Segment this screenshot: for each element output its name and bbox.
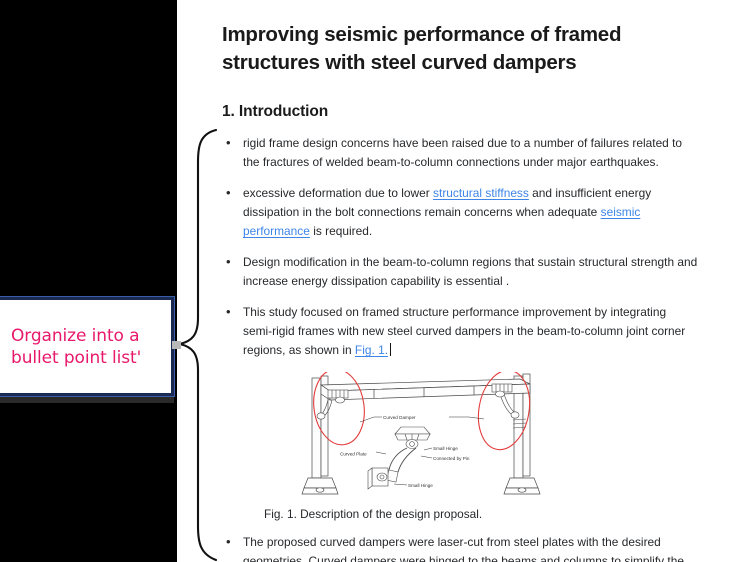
bullet-list: rigid frame design concerns have been ra… <box>222 134 698 562</box>
callout-shadow <box>0 396 174 403</box>
figure-image: Curved Damper Curved Plate Small Hinge C… <box>264 372 698 503</box>
brace-connector <box>176 128 218 562</box>
list-item-bullet-4[interactable]: This study focused on framed structure p… <box>222 303 698 360</box>
bullet-2-text: excessive deformation due to lower struc… <box>243 186 651 238</box>
callout-text: Organize into a bullet point list' <box>0 325 171 369</box>
list-item-bullet-2[interactable]: excessive deformation due to lower struc… <box>222 184 698 241</box>
left-dark-panel <box>0 0 177 562</box>
design-proposal-diagram: Curved Damper Curved Plate Small Hinge C… <box>264 372 594 497</box>
inline-link[interactable]: structural stiffness <box>433 186 529 200</box>
bullet-3-text: Design modification in the beam-to-colum… <box>243 255 697 288</box>
label-small-hinge-top: Small Hinge <box>433 446 458 451</box>
screenshot-root: Improving seismic performance of framed … <box>0 0 740 562</box>
instruction-callout[interactable]: Organize into a bullet point list' <box>0 297 174 396</box>
list-item-bullet-5[interactable]: The proposed curved dampers were laser-c… <box>222 533 698 562</box>
bullet-5-text: The proposed curved dampers were laser-c… <box>243 535 684 562</box>
document-pane: Improving seismic performance of framed … <box>177 0 740 562</box>
label-curved-damper: Curved Damper <box>383 415 416 420</box>
inline-link[interactable]: Fig. 1. <box>355 343 388 357</box>
figure-container: Curved Damper Curved Plate Small Hinge C… <box>222 372 698 523</box>
callout-connector-handle[interactable] <box>172 341 181 349</box>
label-curved-plate: Curved Plate <box>340 452 367 457</box>
text-cursor <box>390 343 391 356</box>
label-connected-by-pin: Connected by Pin <box>433 456 470 461</box>
inline-link[interactable]: seismic performance <box>243 205 640 238</box>
list-item-bullet-3[interactable]: Design modification in the beam-to-colum… <box>222 253 698 291</box>
label-small-hinge-bottom: Small Hinge <box>408 483 433 488</box>
bullet-1-text: rigid frame design concerns have been ra… <box>243 136 682 169</box>
section-heading-introduction: 1. Introduction <box>222 103 698 121</box>
figure-caption: Fig. 1. Description of the design propos… <box>264 505 698 523</box>
page-title: Improving seismic performance of framed … <box>222 21 698 77</box>
bullet-4-text: This study focused on framed structure p… <box>243 305 685 357</box>
list-item-bullet-1[interactable]: rigid frame design concerns have been ra… <box>222 134 698 172</box>
